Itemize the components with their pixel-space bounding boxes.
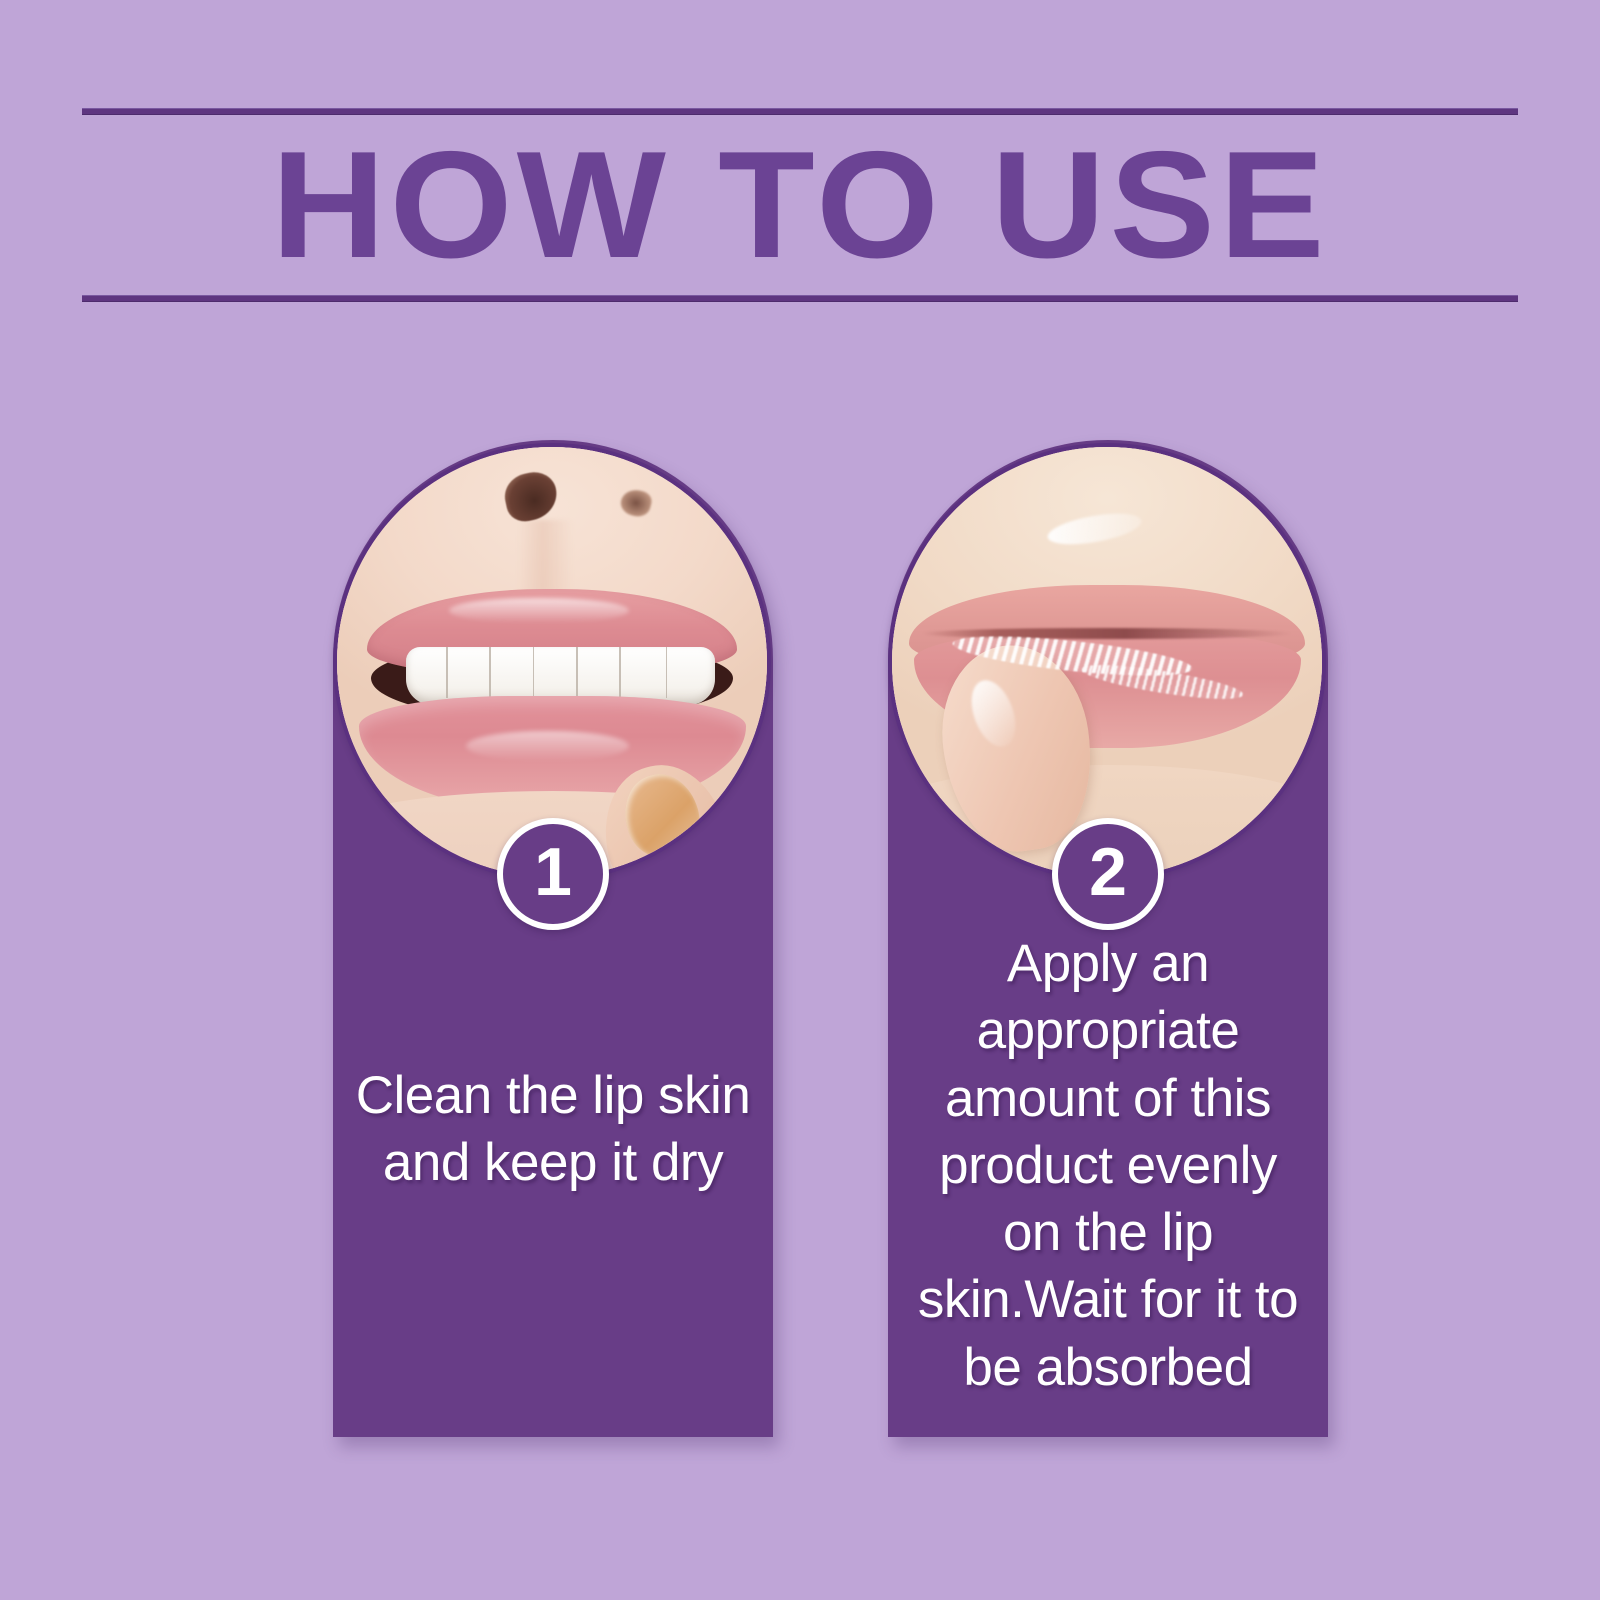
- step-number-1: 1: [534, 838, 572, 906]
- page-title: HOW TO USE: [53, 124, 1546, 286]
- lip-applying-illustration: [892, 447, 1322, 877]
- step-card-2: 2 Apply an appropriate amount of this pr…: [888, 440, 1328, 1440]
- lip-cleaning-illustration: [337, 447, 767, 877]
- lower-lip-highlight: [466, 731, 629, 761]
- step-caption-1: Clean the lip skin and keep it dry: [355, 1062, 751, 1197]
- step-number-2: 2: [1089, 838, 1127, 906]
- upper-lip-highlight: [449, 598, 630, 624]
- step-photo-2: [888, 443, 1326, 881]
- step-photo-1: [333, 443, 771, 881]
- page-header: HOW TO USE: [82, 108, 1518, 302]
- step-number-badge-2: 2: [1052, 818, 1164, 930]
- steps-container: 1 Clean the lip skin and keep it dry 2: [0, 440, 1600, 1450]
- step-number-badge-1: 1: [497, 818, 609, 930]
- header-rule-top: [82, 108, 1518, 115]
- step-caption-2: Apply an appropriate amount of this prod…: [910, 930, 1306, 1401]
- philtrum: [518, 520, 574, 593]
- header-rule-bottom: [82, 295, 1518, 302]
- step-card-1: 1 Clean the lip skin and keep it dry: [333, 440, 773, 1440]
